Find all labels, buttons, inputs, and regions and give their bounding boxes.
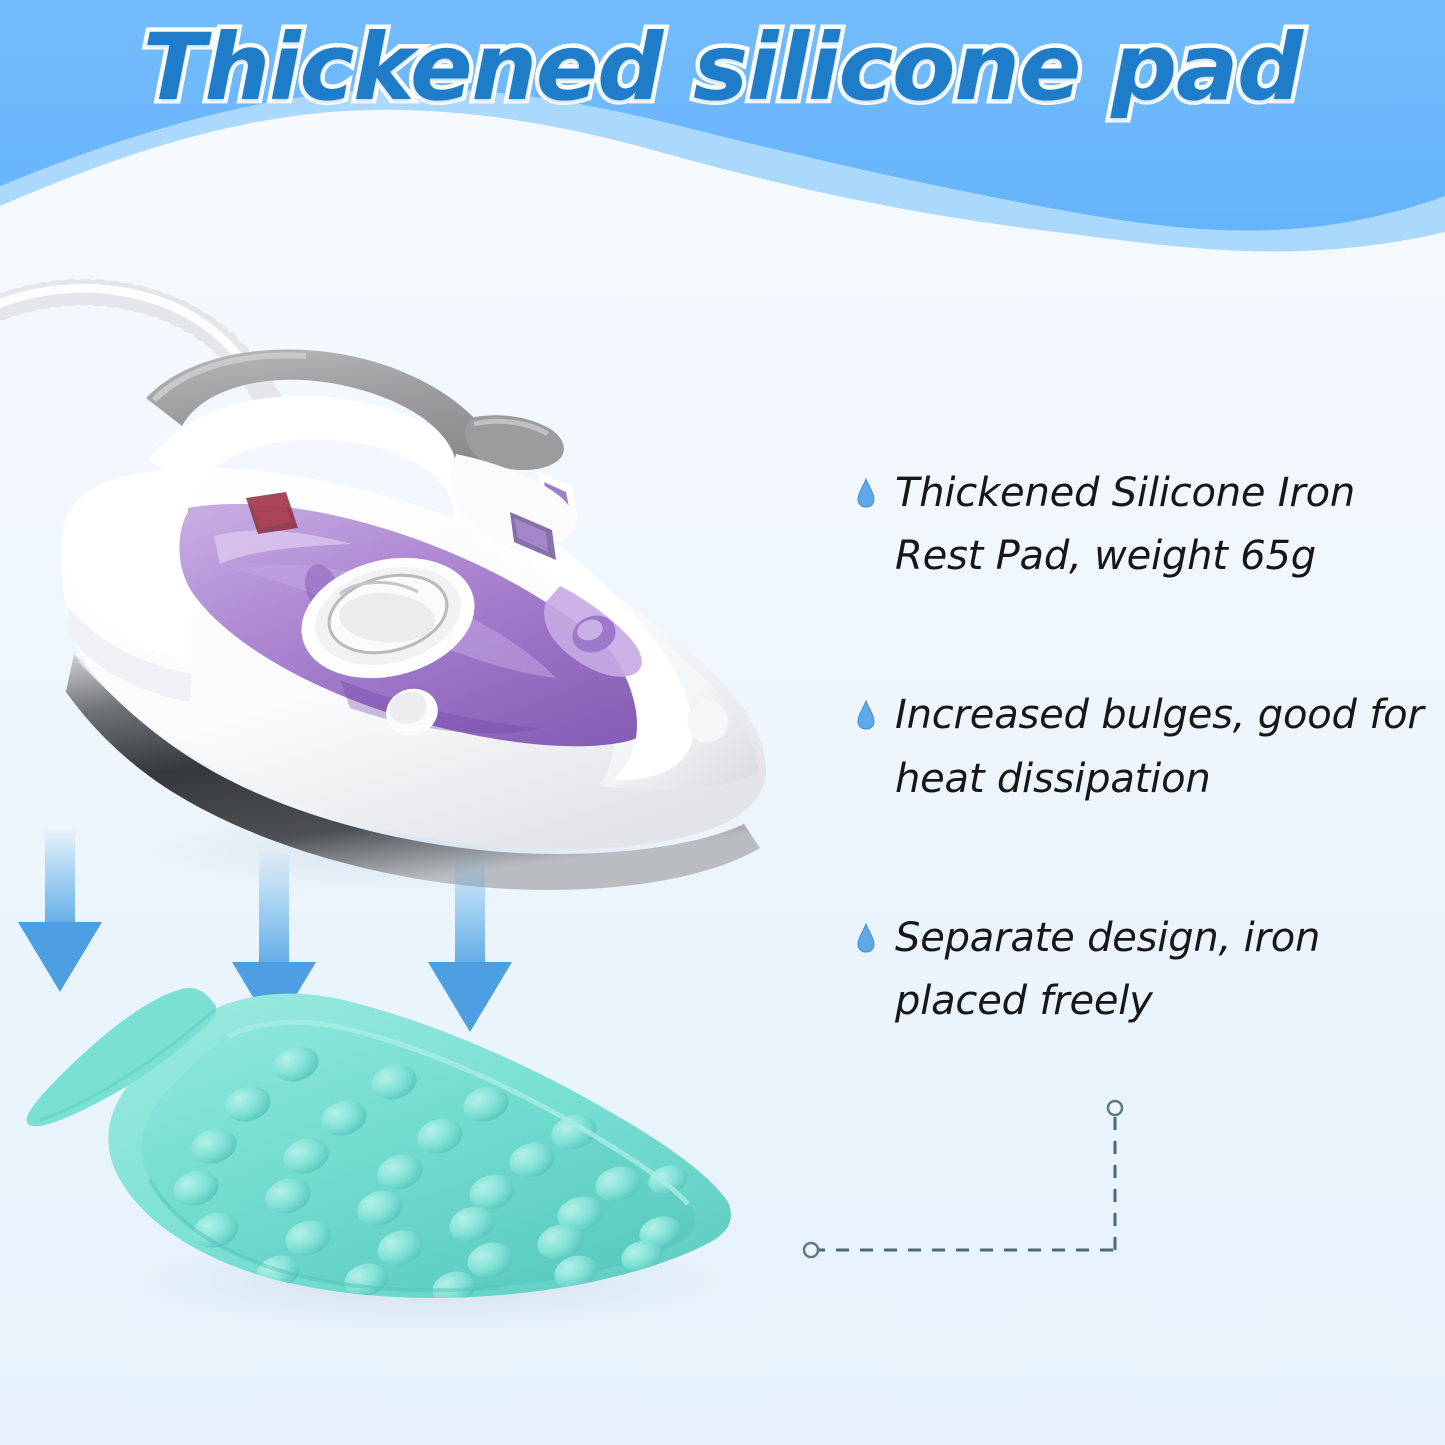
feature-item-3: Separate design, iron placed freely xyxy=(856,907,1436,1033)
callout-endpoint-top xyxy=(1108,1101,1122,1115)
feature-item-1: Thickened Silicone Iron Rest Pad, weight… xyxy=(856,462,1436,588)
steam-iron xyxy=(0,288,766,892)
silicone-iron-rest-pad xyxy=(27,988,731,1328)
feature-text-2: Increased bulges, good for heat dissipat… xyxy=(895,684,1425,810)
feature-text-3: Separate design, iron placed freely xyxy=(895,907,1425,1033)
header-banner: Thickened silicone pad Thickened silicon… xyxy=(0,0,1445,262)
water-drop-icon xyxy=(856,700,876,730)
water-drop-icon xyxy=(856,478,876,508)
dimension-callout xyxy=(780,1080,1180,1310)
product-infographic: Thickened silicone pad Thickened silicon… xyxy=(0,0,1445,1445)
down-arrow-1 xyxy=(18,828,102,992)
page-title-outline: Thickened silicone pad xyxy=(0,14,1445,121)
feature-item-2: Increased bulges, good for heat dissipat… xyxy=(856,684,1436,810)
feature-text-1: Thickened Silicone Iron Rest Pad, weight… xyxy=(895,462,1425,588)
product-illustration xyxy=(0,250,860,1445)
callout-endpoint-left xyxy=(804,1243,818,1257)
callout-leader-lines xyxy=(780,1080,1180,1310)
feature-list: Thickened Silicone Iron Rest Pad, weight… xyxy=(856,462,1436,1033)
product-photo-area xyxy=(0,250,860,1445)
iron-power-cord xyxy=(0,288,276,414)
water-drop-icon xyxy=(856,923,876,953)
